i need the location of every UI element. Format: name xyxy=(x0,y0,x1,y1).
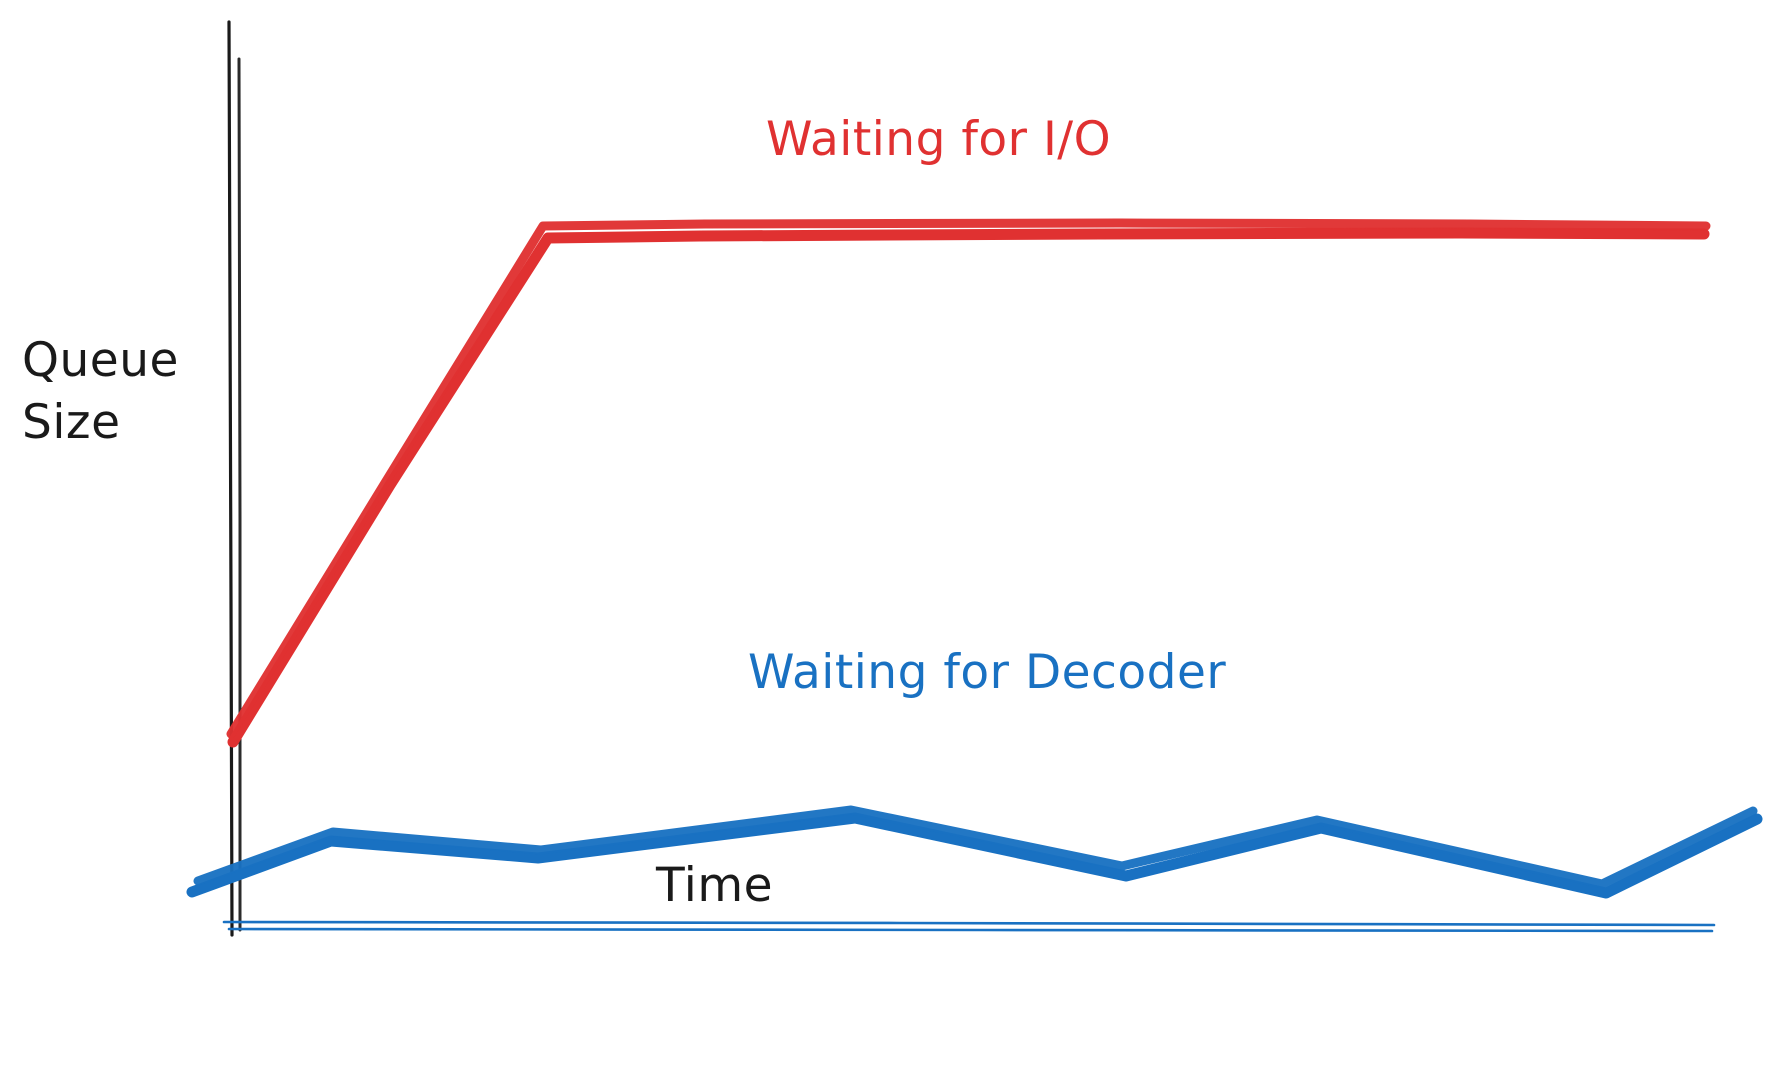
x-axis xyxy=(224,922,1714,931)
y-axis-label-line1: Queue xyxy=(22,333,179,388)
x-axis-label: Time xyxy=(656,855,773,917)
series-line-waiting-for-decoder xyxy=(192,810,1757,893)
chart-canvas: QueueSize Time Waiting for I/O Waiting f… xyxy=(0,0,1784,1072)
y-axis-label: QueueSize xyxy=(22,330,179,454)
io-series-label: Waiting for I/O xyxy=(766,112,1111,167)
y-axis xyxy=(229,22,240,935)
y-axis-label-line2: Size xyxy=(22,395,120,450)
decoder-series-label: Waiting for Decoder xyxy=(748,645,1226,700)
